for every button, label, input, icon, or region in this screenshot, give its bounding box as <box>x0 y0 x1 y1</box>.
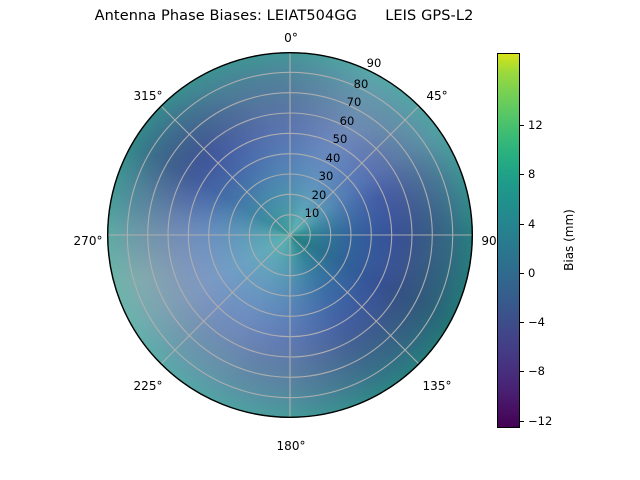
r-tick-label-60: 60 <box>340 114 355 128</box>
colorbar-axis-label: Bias (mm) <box>562 209 576 271</box>
figure-canvas: Antenna Phase Biases: LEIAT504GG LEIS GP… <box>0 0 640 480</box>
r-tick-label-40: 40 <box>326 151 341 165</box>
r-tick-label-20: 20 <box>312 188 327 202</box>
theta-tick-label-135: 135° <box>423 379 452 393</box>
colorbar: 12 8 4 0 −4 −8 −12 Bias (mm) <box>497 53 617 429</box>
r-tick-label-90: 90 <box>367 56 382 70</box>
r-tick-label-50: 50 <box>333 132 348 146</box>
r-tick-label-10: 10 <box>305 206 320 220</box>
theta-tick-label-180: 180° <box>277 439 306 453</box>
page-title: Antenna Phase Biases: LEIAT504GG LEIS GP… <box>0 8 568 24</box>
r-tick-label-80: 80 <box>354 77 369 91</box>
r-tick-label-70: 70 <box>347 95 362 109</box>
polar-axes <box>107 52 473 418</box>
polar-low-bias-lobe <box>107 52 473 418</box>
colorbar-ticklabel-12: 12 <box>528 118 543 132</box>
colorbar-gradient <box>497 53 520 428</box>
colorbar-tick-4 <box>520 224 524 225</box>
polar-bias-surface <box>107 52 473 418</box>
colorbar-tick-12 <box>520 125 524 126</box>
colorbar-ticklabel-4: 4 <box>528 217 535 231</box>
theta-tick-label-315: 315° <box>134 89 163 103</box>
colorbar-tick-0 <box>520 273 524 274</box>
theta-tick-label-270: 270° <box>74 234 103 248</box>
colorbar-ticklabel-m4: −4 <box>528 315 545 329</box>
colorbar-ticklabel-m8: −8 <box>528 364 545 378</box>
theta-tick-label-45: 45° <box>426 89 447 103</box>
colorbar-ticklabel-0: 0 <box>528 266 535 280</box>
colorbar-ticklabel-8: 8 <box>528 167 535 181</box>
theta-tick-label-0: 0° <box>284 31 298 45</box>
colorbar-tick-m8 <box>520 371 524 372</box>
theta-tick-label-225: 225° <box>134 379 163 393</box>
polar-data-field <box>107 52 473 418</box>
colorbar-ticklabel-m12: −12 <box>528 414 552 428</box>
colorbar-tick-8 <box>520 174 524 175</box>
colorbar-tick-m12 <box>520 421 524 422</box>
theta-tick-label-90: 90 <box>481 234 496 248</box>
colorbar-tick-m4 <box>520 322 524 323</box>
r-tick-label-30: 30 <box>319 169 334 183</box>
